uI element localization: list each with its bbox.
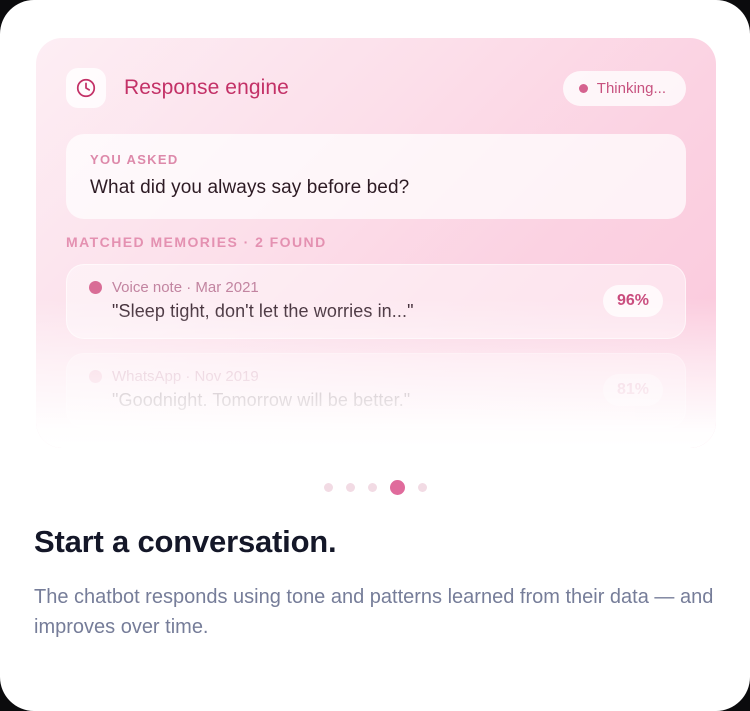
matched-memories-label: MATCHED MEMORIES · 2 FOUND xyxy=(66,234,327,250)
page-description: The chatbot responds using tone and patt… xyxy=(34,582,714,643)
you-asked-label: YOU ASKED xyxy=(90,152,662,167)
memory-meta: Voice note · Mar 2021 xyxy=(89,279,587,296)
memory-source-dot-icon xyxy=(89,370,102,383)
memory-source-label: Voice note · Mar 2021 xyxy=(112,279,259,296)
memory-match-score: 81% xyxy=(603,374,663,406)
panel-header: Response engine Thinking... xyxy=(66,64,686,112)
status-badge-label: Thinking... xyxy=(597,80,666,97)
page-title: Start a conversation. xyxy=(34,524,714,560)
pagination-dot[interactable] xyxy=(368,483,377,492)
list-item[interactable]: Voice note · Mar 2021 "Sleep tight, don'… xyxy=(66,264,686,339)
pagination-dot-active[interactable] xyxy=(390,480,405,495)
memory-quote: "Goodnight. Tomorrow will be better." xyxy=(112,390,587,411)
matched-memories-list: Voice note · Mar 2021 "Sleep tight, don'… xyxy=(66,264,686,442)
list-item[interactable]: WhatsApp · Nov 2019 "Goodnight. Tomorrow… xyxy=(66,353,686,428)
memory-body: WhatsApp · Nov 2019 "Goodnight. Tomorrow… xyxy=(89,368,587,411)
app-screen: Response engine Thinking... YOU ASKED Wh… xyxy=(0,0,750,711)
memory-match-score: 96% xyxy=(603,285,663,317)
pagination-dot[interactable] xyxy=(418,483,427,492)
status-dot-icon xyxy=(579,84,588,93)
memory-body: Voice note · Mar 2021 "Sleep tight, don'… xyxy=(89,279,587,322)
pagination-dot[interactable] xyxy=(324,483,333,492)
carousel-pagination[interactable] xyxy=(0,478,750,496)
status-badge: Thinking... xyxy=(563,71,686,106)
you-asked-question: What did you always say before bed? xyxy=(90,177,662,199)
clock-icon xyxy=(66,68,106,108)
memory-source-dot-icon xyxy=(89,281,102,294)
you-asked-card: YOU ASKED What did you always say before… xyxy=(66,134,686,219)
memory-meta: WhatsApp · Nov 2019 xyxy=(89,368,587,385)
panel-title: Response engine xyxy=(124,76,289,100)
pagination-dot[interactable] xyxy=(346,483,355,492)
memory-quote: "Sleep tight, don't let the worries in..… xyxy=(112,301,587,322)
response-engine-panel-surface: Response engine Thinking... YOU ASKED Wh… xyxy=(36,38,716,448)
response-engine-panel: Response engine Thinking... YOU ASKED Wh… xyxy=(36,38,716,448)
caption-block: Start a conversation. The chatbot respon… xyxy=(34,524,714,643)
memory-source-label: WhatsApp · Nov 2019 xyxy=(112,368,259,385)
